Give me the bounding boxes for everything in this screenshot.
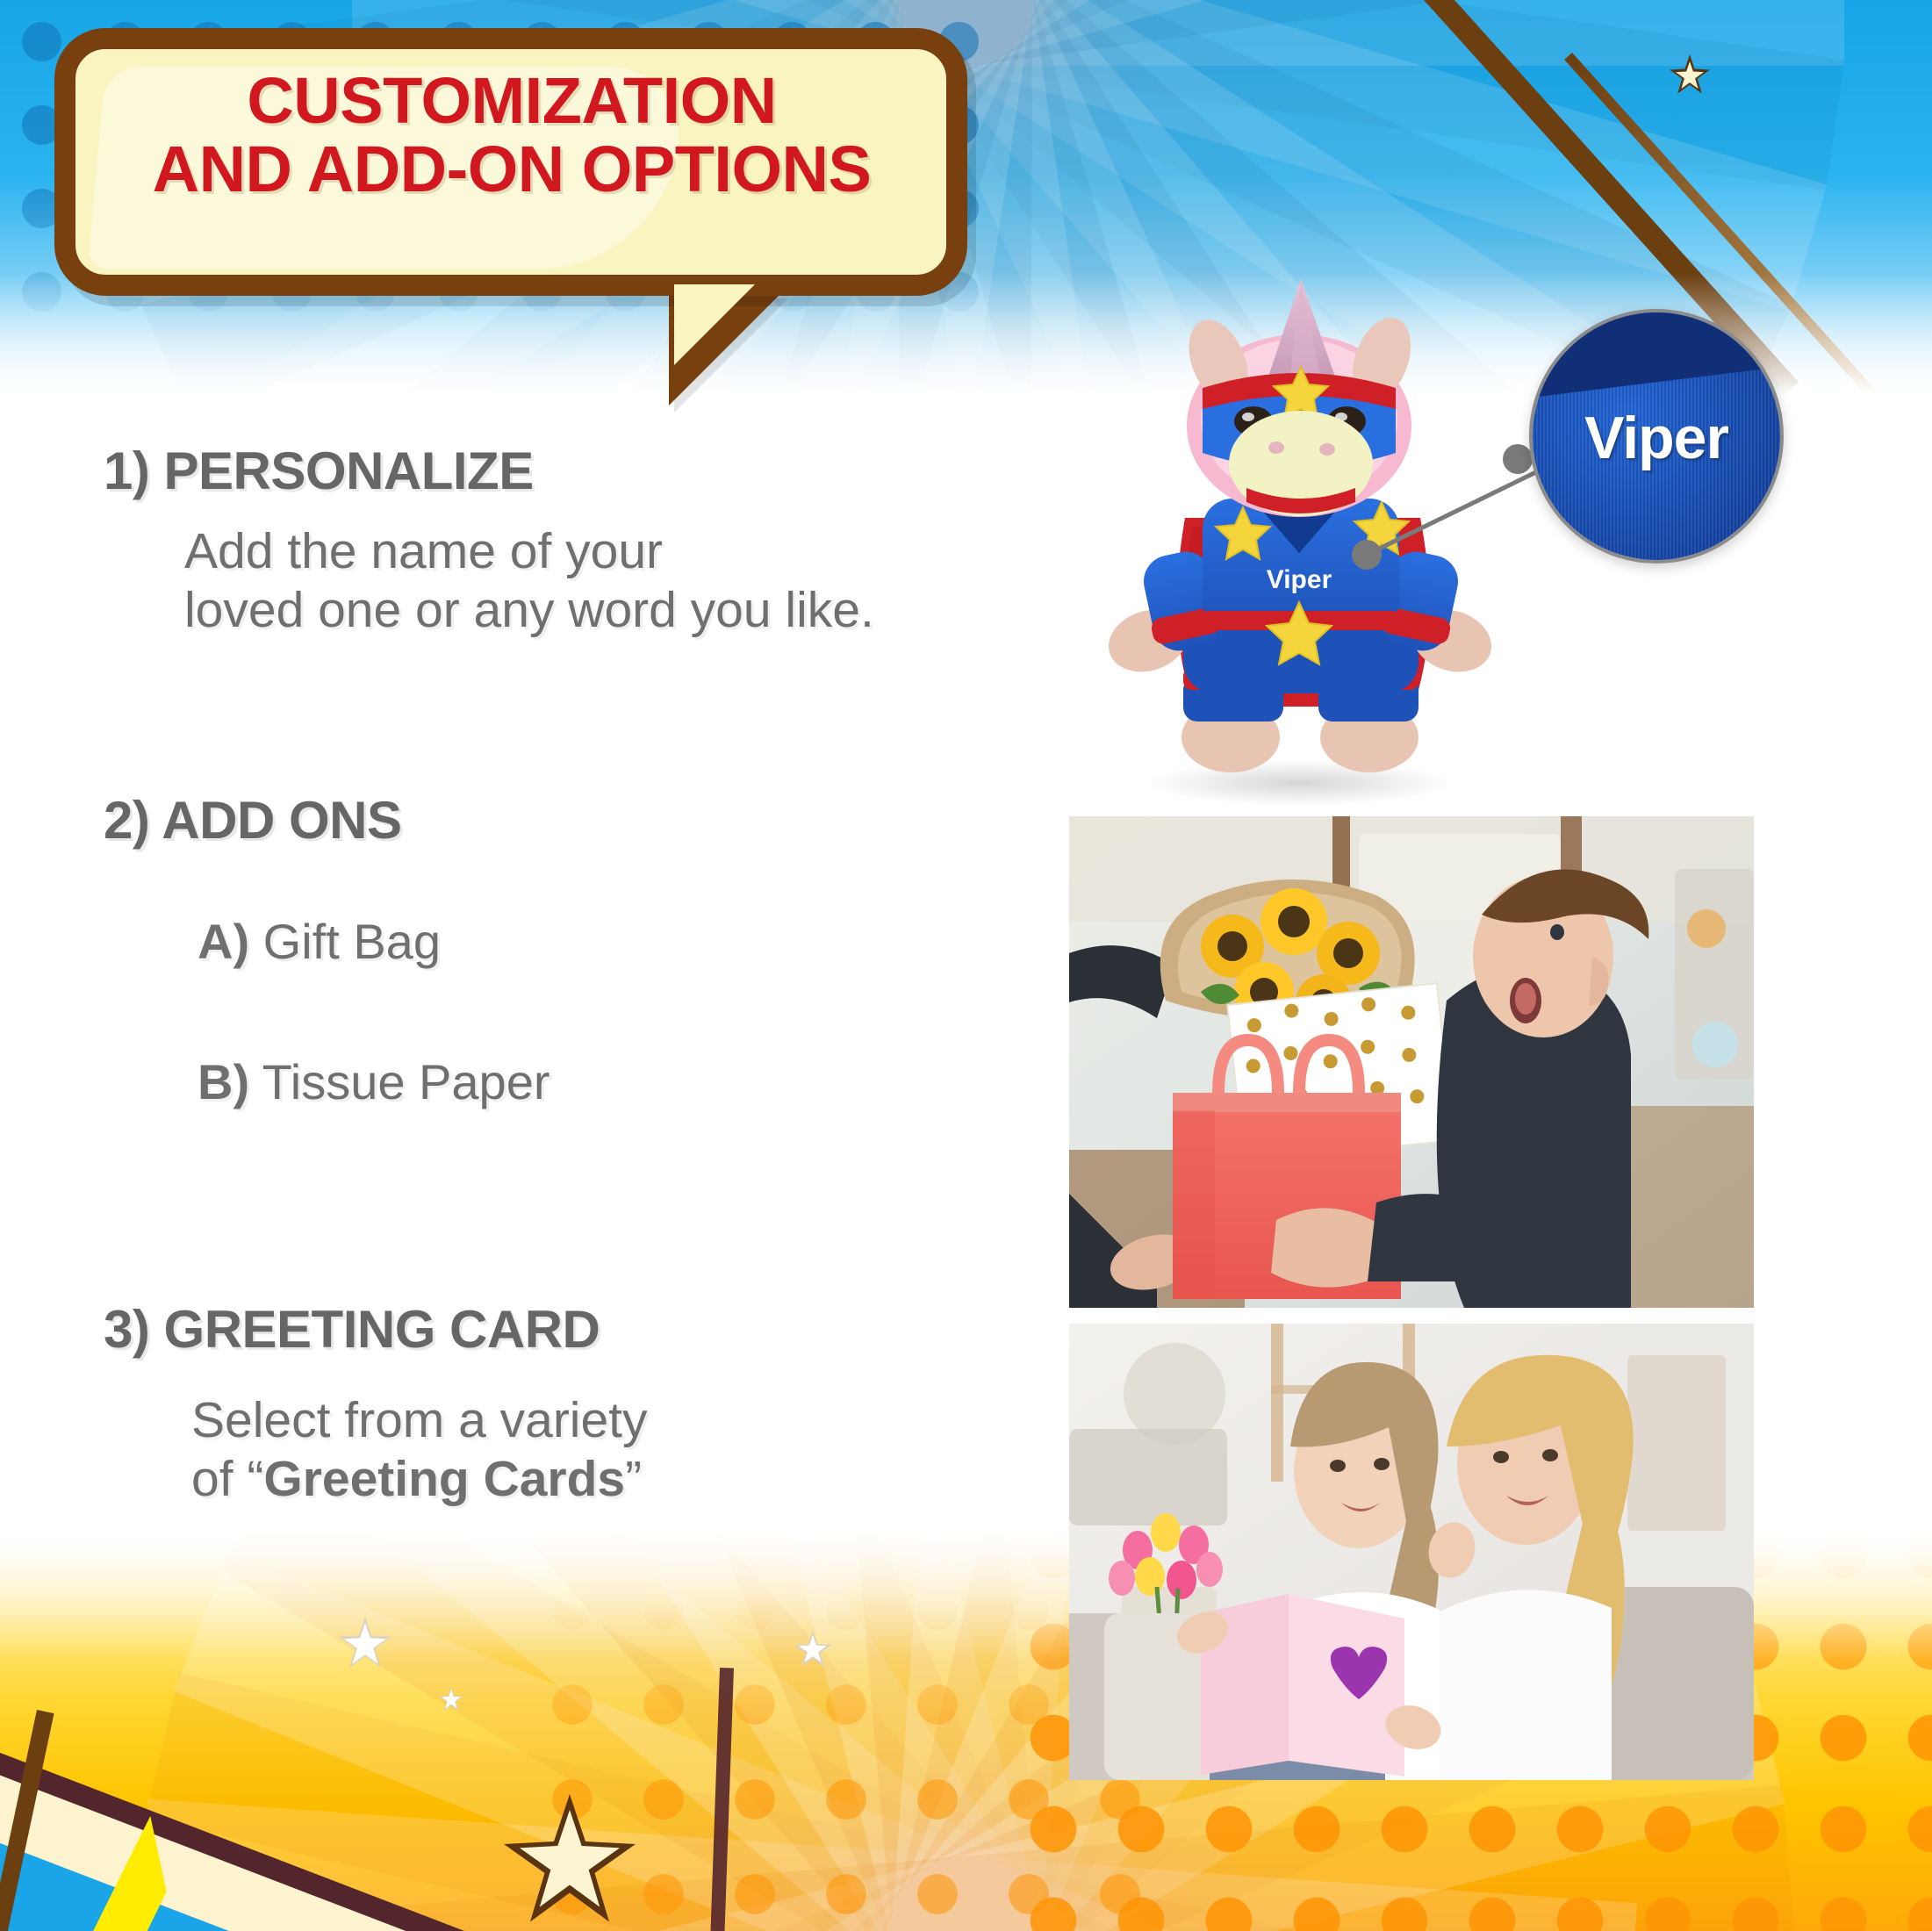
quote-close: ” bbox=[625, 1451, 642, 1507]
callout-dot-on-plush bbox=[1352, 540, 1382, 570]
superhero-unicorn-plush-illustration: Viper bbox=[1080, 263, 1519, 808]
step-1-heading: 1) PERSONALIZE bbox=[104, 441, 534, 501]
addon-label-gift-bag: Gift Bag bbox=[263, 914, 441, 969]
speech-bubble-tail-fill bbox=[674, 284, 755, 365]
name-zoom-magnifier: Viper bbox=[1529, 309, 1784, 564]
plush-product-image: Viper bbox=[1080, 263, 1519, 808]
infographic-canvas: CUSTOMIZATION AND ADD-ON OPTIONS 1) PERS… bbox=[0, 0, 1932, 1931]
addon-label-tissue-paper: Tissue Paper bbox=[262, 1054, 550, 1109]
step-3-body-line-1: Select from a variety bbox=[191, 1391, 1052, 1450]
addon-item-tissue-paper: B) Tissue Paper bbox=[198, 1053, 550, 1110]
step-3-body-line-2: of “Greeting Cards” bbox=[191, 1450, 1052, 1509]
page-title: CUSTOMIZATION AND ADD-ON OPTIONS bbox=[77, 67, 946, 205]
greeting-card-scene-illustration bbox=[1069, 1324, 1754, 1780]
step-2-heading: 2) ADD ONS bbox=[104, 790, 401, 851]
addon-letter-b: B) bbox=[198, 1054, 249, 1109]
addon-item-gift-bag: A) Gift Bag bbox=[198, 913, 441, 970]
addon-letter-a: A) bbox=[198, 914, 249, 969]
page-title-line-1: CUSTOMIZATION bbox=[77, 67, 946, 135]
step-3-body: Select from a variety of “Greeting Cards… bbox=[191, 1391, 1052, 1510]
quote-open: of “ bbox=[191, 1451, 263, 1507]
greeting-card-photo bbox=[1069, 1324, 1754, 1780]
greeting-cards-emphasis: Greeting Cards bbox=[263, 1451, 625, 1507]
gift-bag-scene-illustration bbox=[1069, 816, 1754, 1308]
zoom-personalized-name: Viper bbox=[1533, 404, 1780, 472]
step-3-heading: 3) GREETING CARD bbox=[104, 1299, 600, 1360]
step-1-body: Add the name of your loved one or any wo… bbox=[184, 522, 1045, 641]
step-1-body-line-2: loved one or any word you like. bbox=[184, 581, 1045, 640]
plush-chest-name: Viper bbox=[1267, 565, 1332, 594]
callout-dot-at-magnifier bbox=[1503, 444, 1533, 474]
page-title-line-2: AND ADD-ON OPTIONS bbox=[77, 135, 946, 204]
gift-bag-photo bbox=[1069, 816, 1754, 1308]
step-1-body-line-1: Add the name of your bbox=[184, 522, 1045, 581]
header-speech-bubble: CUSTOMIZATION AND ADD-ON OPTIONS bbox=[54, 28, 994, 379]
